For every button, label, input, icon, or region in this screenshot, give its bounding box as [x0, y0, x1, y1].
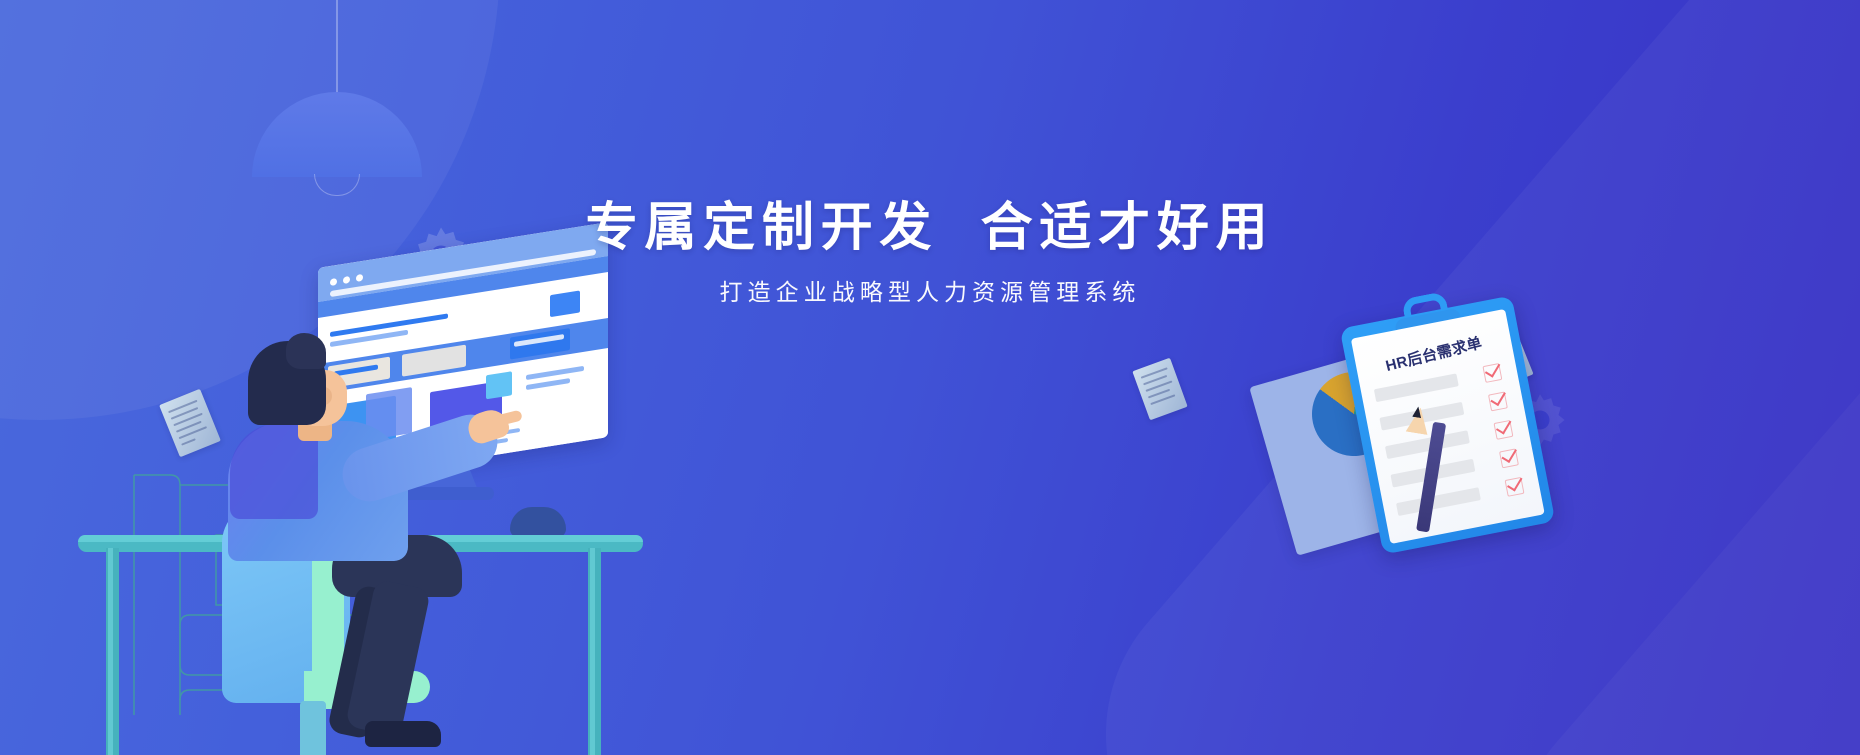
lamp-cord [336, 0, 338, 94]
desk-leg-left-highlight [108, 548, 113, 755]
desk-leg-right-highlight [590, 548, 595, 755]
illustration-workstation [60, 235, 700, 755]
pendant-lamp-icon [252, 0, 422, 206]
headline-block: 专属定制开发 合适才好用 打造企业战略型人力资源管理系统 [0, 198, 1860, 308]
page-title: 专属定制开发 合适才好用 [0, 198, 1860, 259]
person-shoe [365, 721, 441, 747]
checklist-line [1374, 373, 1459, 402]
lamp-shade [252, 92, 422, 177]
hero-banner: 专属定制开发 合适才好用 打造企业战略型人力资源管理系统 [0, 0, 1860, 755]
illustration-hr-clipboard: HR后台需求单 [1260, 300, 1660, 630]
page-subtitle: 打造企业战略型人力资源管理系统 [0, 278, 1860, 308]
person-hair-top [286, 333, 326, 369]
checklist-line [1396, 487, 1481, 516]
computer-mouse [510, 507, 566, 537]
chair-post [300, 701, 326, 755]
lamp-bulb [314, 174, 360, 196]
